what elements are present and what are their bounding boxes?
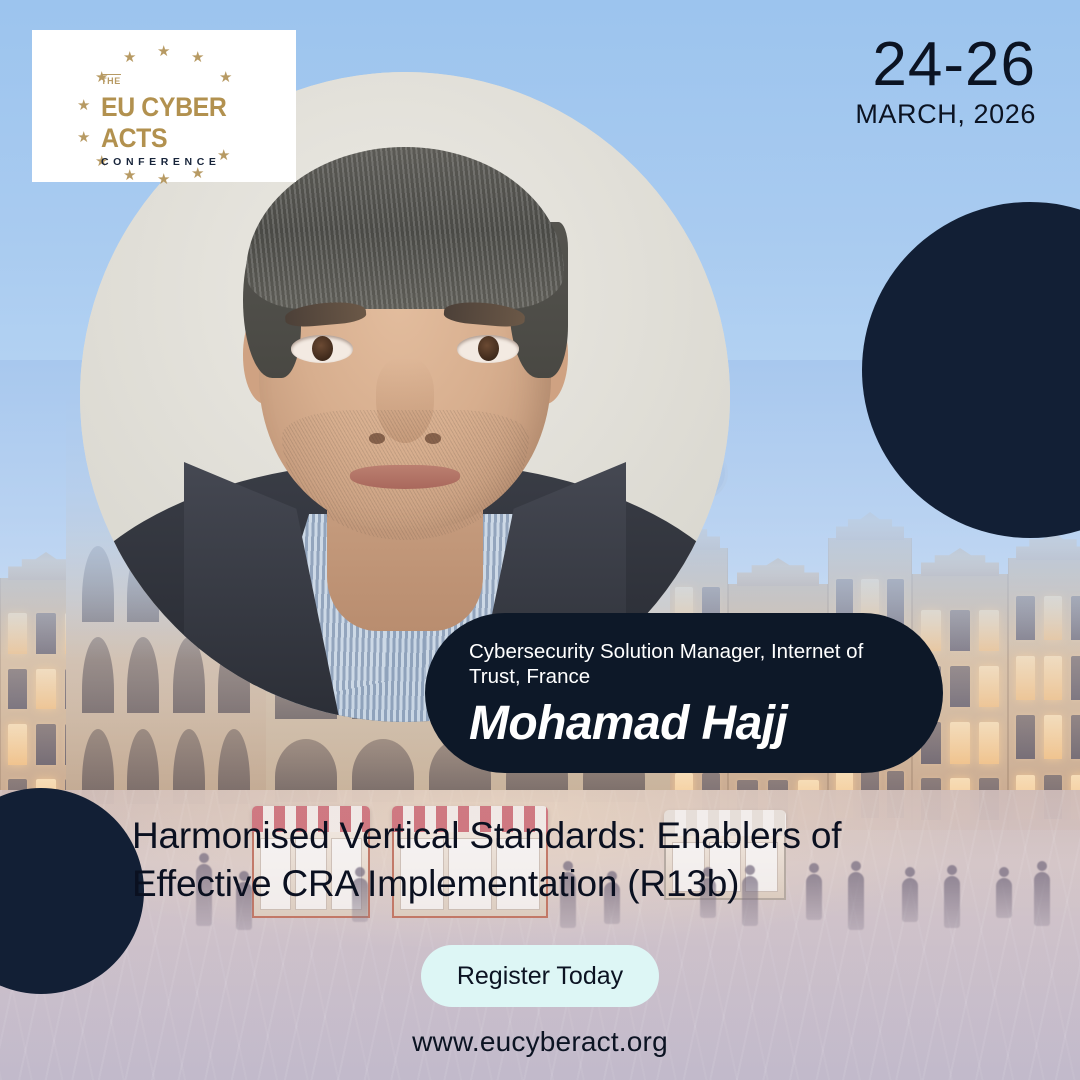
star-icon: ★ (123, 50, 138, 65)
speaker-name-card: Cybersecurity Solution Manager, Internet… (425, 613, 943, 773)
star-icon: ★ (191, 166, 206, 181)
event-date: 24-26 MARCH, 2026 (855, 36, 1036, 130)
speaker-announcement-poster: ★ ★ ★ ★ ★ ★ ★ ★ ★ ★ ★ ★ THE EU CYBER ACT… (0, 0, 1080, 1080)
star-icon: ★ (77, 130, 92, 145)
conference-logo[interactable]: ★ ★ ★ ★ ★ ★ ★ ★ ★ ★ ★ ★ THE EU CYBER ACT… (32, 30, 296, 182)
star-icon: ★ (157, 172, 172, 187)
logo-inner: ★ ★ ★ ★ ★ ★ ★ ★ ★ ★ ★ ★ THE EU CYBER ACT… (49, 44, 279, 168)
website-url[interactable]: www.eucyberact.org (0, 1026, 1080, 1058)
star-icon: ★ (157, 44, 172, 59)
talk-title: Harmonised Vertical Standards: Enablers … (132, 812, 962, 908)
star-icon: ★ (191, 50, 206, 65)
star-icon: ★ (123, 168, 138, 183)
mouth (350, 465, 461, 488)
speaker-name: Mohamad Hajj (469, 696, 899, 751)
star-icon: ★ (77, 98, 92, 113)
eye-right (457, 335, 519, 362)
logo-conference-label: CONFERENCE (101, 156, 281, 168)
logo-wordmark: THE EU CYBER ACTS CONFERENCE (101, 74, 281, 168)
speaker-role: Cybersecurity Solution Manager, Internet… (469, 639, 899, 689)
event-date-month-year: MARCH, 2026 (855, 99, 1036, 130)
register-today-button[interactable]: Register Today (421, 945, 659, 1007)
logo-main-label: EU CYBER ACTS (101, 92, 267, 154)
logo-the-label: THE (101, 74, 121, 86)
event-date-days: 24-26 (855, 36, 1036, 95)
eye-left (291, 335, 353, 362)
